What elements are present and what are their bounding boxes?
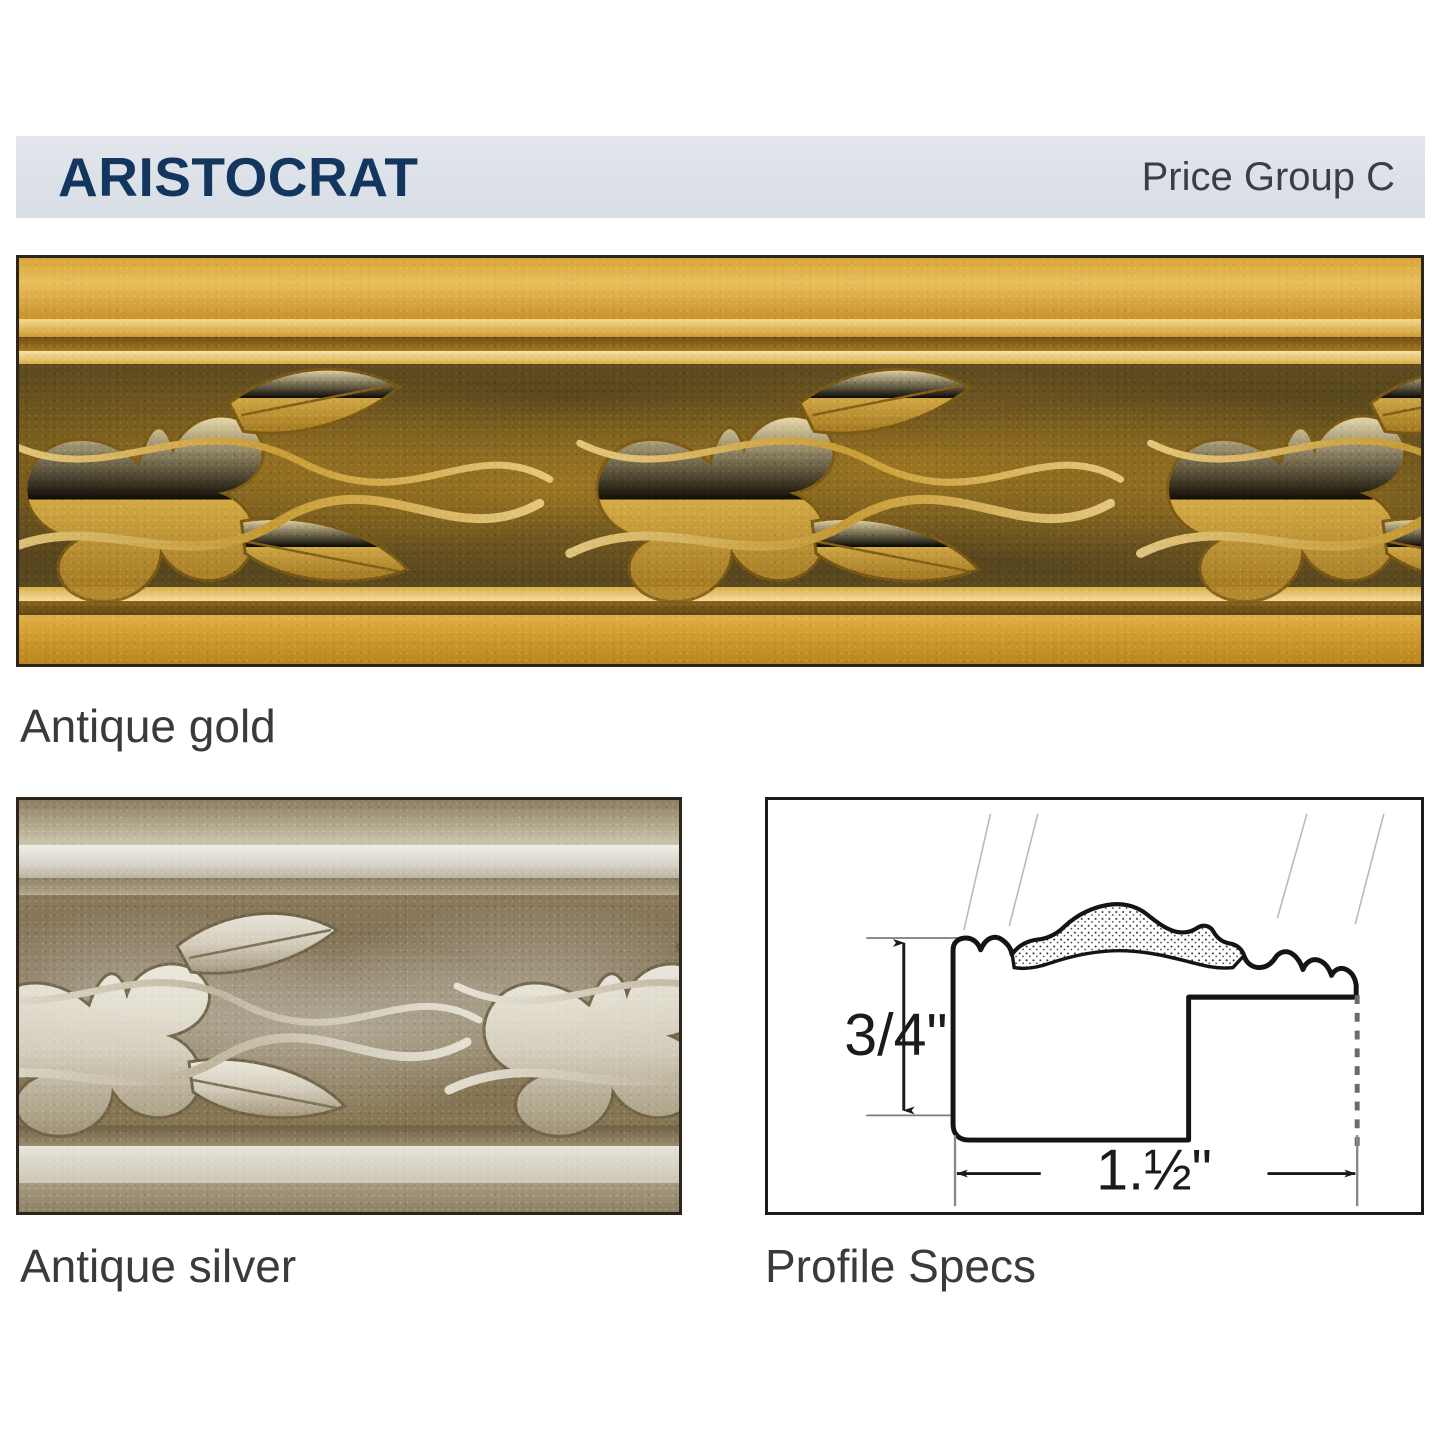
profile-cross-section-drawing: 3/4" 1.½" <box>768 800 1421 1212</box>
carving-texture-silver <box>19 800 679 1212</box>
width-dimension-label: 1.½" <box>1096 1139 1212 1203</box>
molding-render-silver <box>19 800 679 1212</box>
caption-antique-silver: Antique silver <box>20 1243 296 1289</box>
sample-image-antique-silver <box>16 797 682 1215</box>
profile-specs-diagram: 3/4" 1.½" <box>765 797 1424 1215</box>
construction-guide-lines <box>964 814 1384 930</box>
molding-render-gold <box>19 258 1421 664</box>
price-group-label: Price Group C <box>1142 157 1425 197</box>
header-bar: ARISTOCRAT Price Group C <box>16 136 1425 218</box>
caption-profile-specs: Profile Specs <box>765 1243 1036 1289</box>
page-title: ARISTOCRAT <box>16 150 418 205</box>
carving-texture-gold <box>19 258 1421 664</box>
sample-image-antique-gold <box>16 255 1424 667</box>
height-dimension-label: 3/4" <box>844 1001 947 1068</box>
caption-antique-gold: Antique gold <box>20 703 276 749</box>
